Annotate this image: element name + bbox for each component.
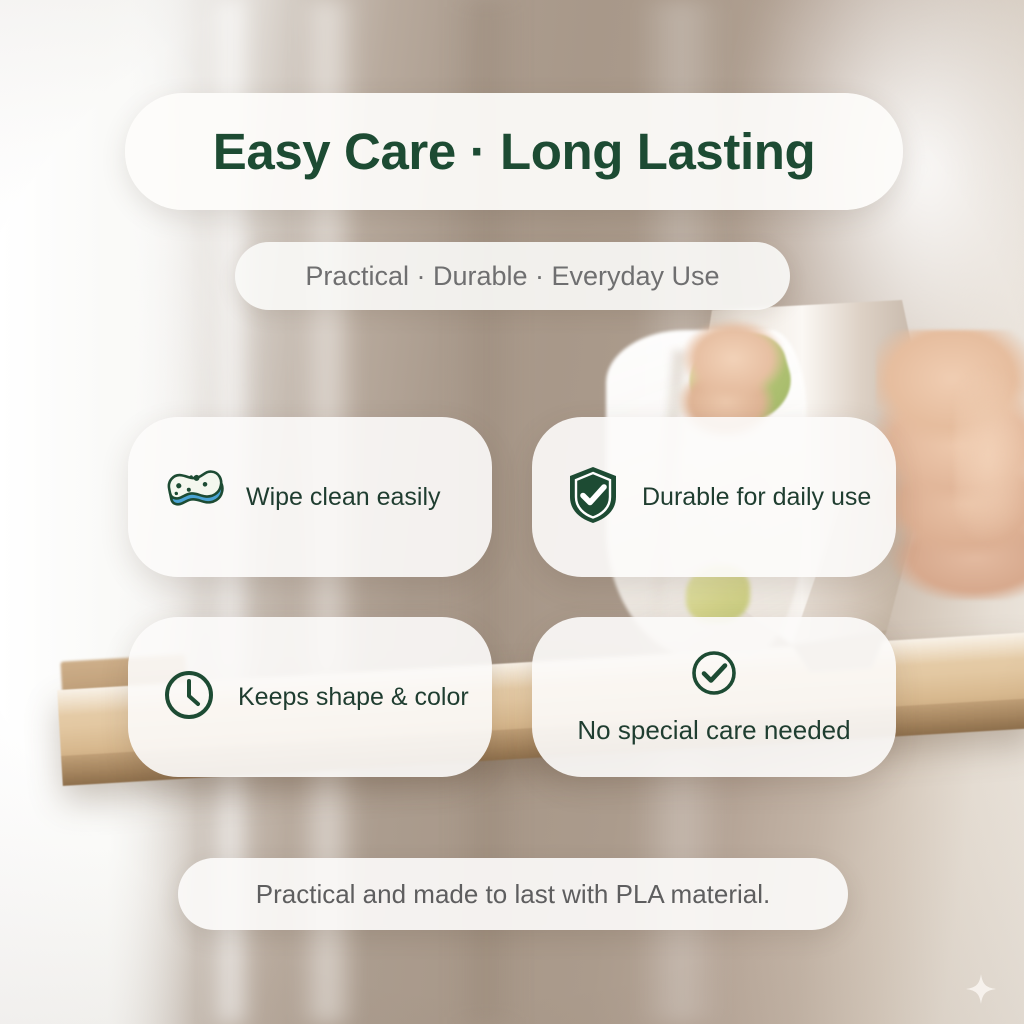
page-subtitle: Practical · Durable · Everyday Use	[305, 261, 719, 292]
feature-card-no-special-care[interactable]: No special care needed	[532, 617, 896, 777]
page-title: Easy Care · Long Lasting	[213, 122, 816, 181]
shield-check-icon	[566, 465, 620, 530]
feature-label: Durable for daily use	[642, 483, 871, 512]
caption-pill: Practical and made to last with PLA mate…	[178, 858, 848, 930]
subtitle-pill: Practical · Durable · Everyday Use	[235, 242, 790, 310]
check-circle-icon	[689, 648, 739, 703]
footer-caption: Practical and made to last with PLA mate…	[256, 879, 770, 910]
content-overlay: Easy Care · Long Lasting Practical · Dur…	[0, 0, 1024, 1024]
title-pill: Easy Care · Long Lasting	[125, 93, 903, 210]
feature-label: Wipe clean easily	[246, 483, 441, 512]
feature-card-durable[interactable]: Durable for daily use	[532, 417, 896, 577]
feature-card-wipe-clean[interactable]: Wipe clean easily	[128, 417, 492, 577]
feature-label: No special care needed	[577, 715, 850, 746]
sponge-icon	[162, 470, 224, 525]
feature-card-keeps-shape[interactable]: Keeps shape & color	[128, 617, 492, 777]
sparkle-icon	[966, 974, 996, 1004]
feature-label: Keeps shape & color	[238, 683, 469, 712]
clock-icon	[162, 668, 216, 727]
